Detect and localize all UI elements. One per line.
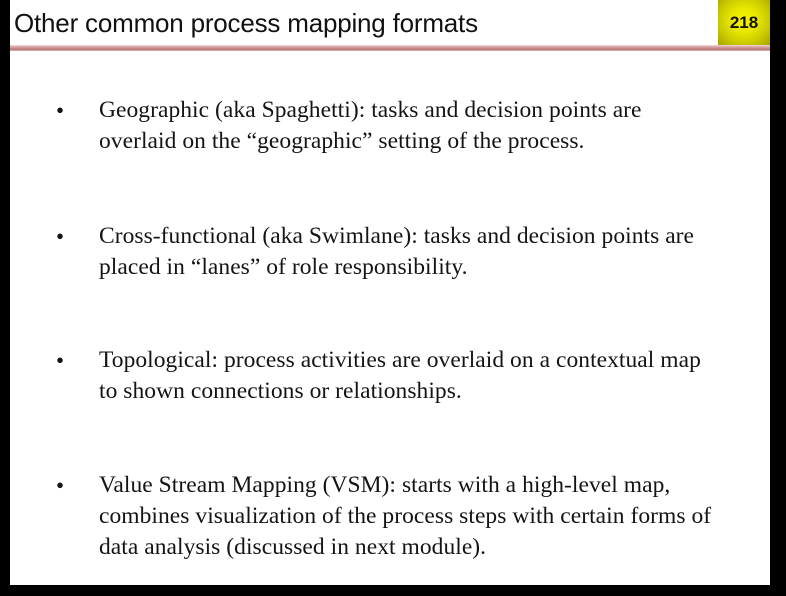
slide-bottom-border: [0, 585, 786, 596]
page-title: Other common process mapping formats: [14, 6, 654, 40]
list-item-text: Topological: process activities are over…: [99, 345, 724, 407]
list-item: • Geographic (aka Spaghetti): tasks and …: [56, 95, 724, 157]
list-item-text: Geographic (aka Spaghetti): tasks and de…: [99, 95, 724, 157]
bullet-dot-icon: •: [56, 470, 76, 501]
page-number-badge: 218: [718, 0, 770, 45]
list-item-text: Value Stream Mapping (VSM): starts with …: [99, 470, 724, 563]
slide-canvas: Other common process mapping formats 218…: [10, 0, 770, 585]
list-item: • Cross-functional (aka Swimlane): tasks…: [56, 221, 724, 283]
bullet-dot-icon: •: [56, 345, 76, 376]
bullet-dot-icon: •: [56, 221, 76, 252]
bullet-dot-icon: •: [56, 95, 76, 126]
slide-title-bar: Other common process mapping formats: [10, 0, 770, 47]
list-item: • Value Stream Mapping (VSM): starts wit…: [56, 470, 724, 563]
bullet-list: • Geographic (aka Spaghetti): tasks and …: [10, 51, 770, 585]
slide-frame: Other common process mapping formats 218…: [0, 0, 786, 596]
list-item: • Topological: process activities are ov…: [56, 345, 724, 407]
page-number-label: 218: [718, 0, 770, 45]
list-item-text: Cross-functional (aka Swimlane): tasks a…: [99, 221, 724, 283]
